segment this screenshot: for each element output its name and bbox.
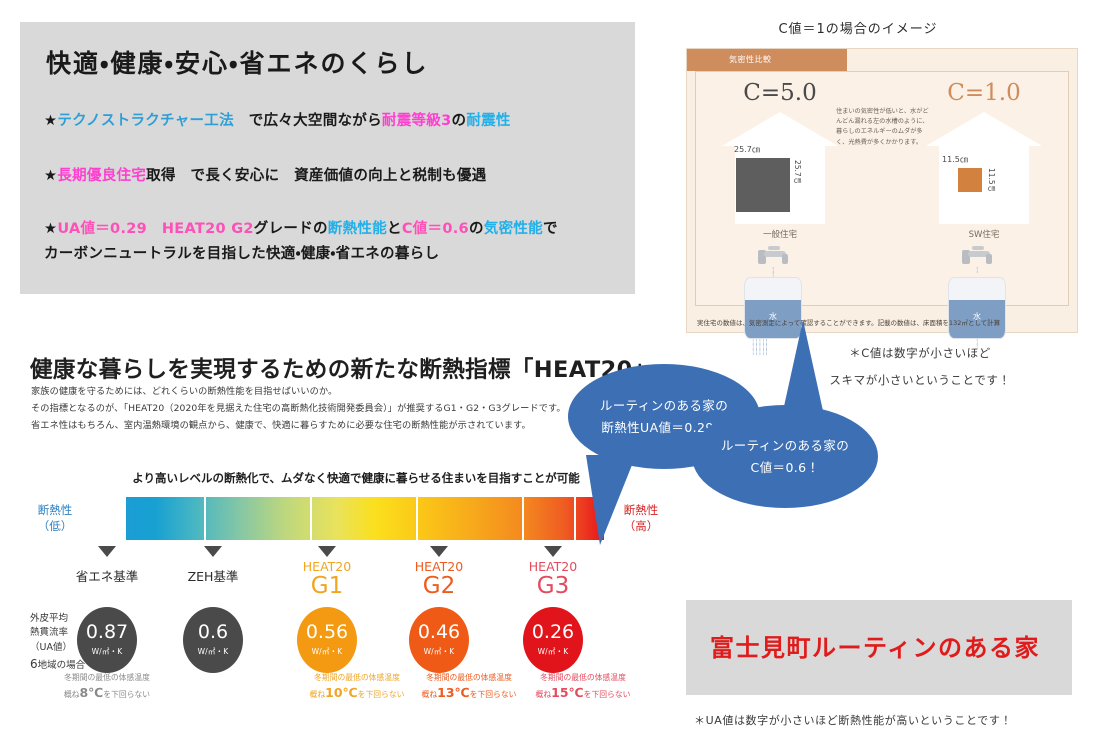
ua-unit-1: W/㎡・K xyxy=(198,646,229,657)
grade-label-4: HEAT20 G3 xyxy=(493,560,613,600)
ua-value-circle-4: 0.26 W/㎡・K xyxy=(523,607,583,673)
ua-value-2: 0.56 xyxy=(306,623,348,642)
gap-dimension-top-left: 25.7㎝ xyxy=(734,144,760,155)
grade-marker-4 xyxy=(544,546,562,557)
heat20-body-line-2: その指標となるのが、「HEAT20（2020年を見据えた住宅の高断熱化技術開発委… xyxy=(31,400,566,414)
bullet-star-1: ★ xyxy=(44,113,57,129)
gap-dimension-side-left: 25.7㎝ xyxy=(792,160,803,184)
gradient-bar-tagline: より高いレベルの断熱化で、ムダなく快適で健康に暮らせる住まいを目指すことが可能 xyxy=(132,470,580,486)
temp-note-4-post: を下回らない xyxy=(584,690,631,699)
temp-note-0-line1: 冬期間の最低の体感温度 xyxy=(32,672,182,684)
ua-axis-region-number: 6 xyxy=(30,657,38,671)
bullet-3-part-3: と xyxy=(387,221,402,237)
temp-note-0-value: 8℃ xyxy=(79,685,103,700)
house-roof-left xyxy=(722,112,838,146)
airtightness-comparison-panel: 気密性比較 C=5.0 25.7㎝ 25.7㎝ 一般住宅 ¦¦ 水 ¦¦¦¦¦¦… xyxy=(686,48,1078,333)
brand-box: 富士見町ルーティンのある家 xyxy=(686,600,1072,695)
ua-axis-region-rest: 地域の場合 xyxy=(38,660,86,671)
temp-note-2-pre: 概ね xyxy=(310,690,326,699)
ua-value-circle-2: 0.56 W/㎡・K xyxy=(297,607,357,673)
grade-label-4-main: G3 xyxy=(493,574,613,599)
gradient-low-l1: 断熱性 xyxy=(38,503,73,517)
ua-value-0: 0.87 xyxy=(86,623,128,642)
water-tank-right: 水 xyxy=(948,277,1006,339)
ua-value-circle-0: 0.87 W/㎡・K xyxy=(77,607,137,673)
bullet-star-2: ★ xyxy=(44,168,57,184)
speech-bubble-c-line1: ルーティンのある家の xyxy=(721,435,849,457)
temp-note-0-pre: 概ね xyxy=(64,690,80,699)
bullet-3-part-7: で xyxy=(543,221,558,237)
temp-note-4-pre: 概ね xyxy=(536,690,552,699)
temp-note-3-pre: 概ね xyxy=(422,690,438,699)
bullet-3-part-5: の xyxy=(469,221,484,237)
brand-title: 富士見町ルーティンのある家 xyxy=(710,628,1040,663)
drip-right-upper: ¦ xyxy=(976,268,979,273)
grade-label-1: ZEH基準 xyxy=(153,566,273,585)
bullet-2-part-1: 取得 で長く安心に 資産価値の向上と税制も優遇 xyxy=(146,168,486,184)
bullet-2-part-0: 長期優良住宅 xyxy=(57,168,146,184)
bullet-star-3: ★ xyxy=(44,221,57,237)
grade-label-4-sub: HEAT20 xyxy=(493,560,613,574)
cvalue-image-caption: C値＝1の場合のイメージ xyxy=(778,18,937,37)
ua-value-circle-1: 0.6 W/㎡・K xyxy=(183,607,243,673)
ua-value-3: 0.46 xyxy=(418,623,460,642)
ua-value-note: ＊UA値は数字が小さいほど断熱性能が高いということです！ xyxy=(694,712,1012,728)
bullet-line-2: ★長期優良住宅取得 で長く安心に 資産価値の向上と税制も優遇 xyxy=(44,165,487,187)
heat20-section-title: 健康な暮らしを実現するための新たな断熱指標「HEAT20」 xyxy=(30,352,656,384)
faucet-icon-right xyxy=(960,244,1004,270)
airtightness-panel-inner: C=5.0 25.7㎝ 25.7㎝ 一般住宅 ¦¦ 水 ¦¦¦¦¦¦¦¦¦¦¦¦… xyxy=(695,71,1069,306)
faucet-icon-left xyxy=(756,244,800,270)
headline-panel: 快適・健康・安心・省エネのくらし ★テクノストラクチャー工法 で広々大空間ながら… xyxy=(20,22,635,294)
temp-note-0-line2: 概ね8℃を下回らない xyxy=(32,684,182,703)
gap-dimension-side-right: 11.5㎝ xyxy=(986,168,997,192)
gradient-tick-1 xyxy=(204,497,206,540)
c-value-heading-right: C=1.0 xyxy=(914,80,1054,106)
insulation-gradient-bar xyxy=(126,497,604,540)
grade-label-3: HEAT20 G2 xyxy=(379,560,499,600)
gradient-tick-3 xyxy=(416,497,418,540)
grade-marker-2 xyxy=(318,546,336,557)
grade-label-0: 省エネ基準 xyxy=(47,566,167,585)
grade-label-0-text: 省エネ基準 xyxy=(47,566,167,585)
grade-marker-3 xyxy=(430,546,448,557)
speech-bubble-c: ルーティンのある家の C値＝0.6！ xyxy=(692,405,878,508)
airtightness-explanation-text: 住まいの気密性が低いと、水がどんどん漏れる左の水槽のように、暮らしのエネルギーの… xyxy=(836,107,932,148)
ua-axis-l3: （UA値） xyxy=(30,642,72,653)
grade-label-3-sub: HEAT20 xyxy=(379,560,499,574)
bullet-line-3: ★UA値＝0.29 HEAT20 G2グレードの断熱性能とC値＝0.6の気密性能… xyxy=(44,218,558,240)
speech-bubble-tail-ua xyxy=(586,455,636,545)
bullet-3-part-2: 断熱性能 xyxy=(328,221,387,237)
grade-label-1-text: ZEH基準 xyxy=(153,566,273,585)
bullet-line-1: ★テクノストラクチャー工法 で広々大空間ながら耐震等級3の耐震性 xyxy=(44,110,511,132)
temp-note-4-line2: 概ね15℃を下回らない xyxy=(508,684,658,703)
grade-marker-1 xyxy=(204,546,222,557)
gradient-tick-2 xyxy=(310,497,312,540)
temp-note-4-value: 15℃ xyxy=(551,685,584,700)
drip-left-lower: ¦¦¦¦¦¦¦¦¦¦¦¦¦¦¦ xyxy=(752,340,769,355)
speech-bubble-ua-line1: ルーティンのある家の xyxy=(600,395,728,417)
house-icon-right xyxy=(926,112,1042,224)
c-value-note-line2: スキマが小さいということです！ xyxy=(829,372,1010,388)
grade-label-2-sub: HEAT20 xyxy=(267,560,387,574)
airtightness-tab-header: 気密性比較 xyxy=(687,49,847,71)
gap-square-left xyxy=(736,158,790,212)
ua-unit-4: W/㎡・K xyxy=(538,646,569,657)
ua-unit-0: W/㎡・K xyxy=(92,646,123,657)
ua-value-1: 0.6 xyxy=(198,623,228,642)
ua-unit-2: W/㎡・K xyxy=(312,646,343,657)
bullet-line-3-continued: カーボンニュートラルを目指した快適・健康・省エネの暮らし xyxy=(44,243,439,265)
airtightness-footnote: 実住宅の数値は、気密測定によって確認することができます。記載の数値は、床面積を1… xyxy=(697,318,1067,327)
c-value-heading-left: C=5.0 xyxy=(710,80,850,106)
bullet-1-part-0: テクノストラクチャー工法 xyxy=(57,113,234,129)
gap-square-right xyxy=(958,168,982,192)
bullet-1-part-4: 耐震性 xyxy=(466,113,510,129)
temp-note-0-post: を下回らない xyxy=(103,690,150,699)
ua-unit-3: W/㎡・K xyxy=(424,646,455,657)
c-value-note-line1: ＊C値は数字が小さいほど xyxy=(849,345,991,361)
speech-bubble-c-line2: C値＝0.6！ xyxy=(751,457,820,479)
gradient-axis-low-label: 断熱性 （低） xyxy=(28,503,82,534)
gradient-low-l2: （低） xyxy=(38,519,73,533)
house-roof-right xyxy=(926,112,1042,146)
bullet-3-part-4: C値＝0.6 xyxy=(402,221,469,237)
grade-label-2: HEAT20 G1 xyxy=(267,560,387,600)
temp-note-2-value: 10℃ xyxy=(325,685,358,700)
house-label-right: SW住宅 xyxy=(926,228,1042,240)
heat20-body-line-3: 省エネ性はもちろん、室内温熱環境の観点から、健康で、快適に暮らすために必要な住宅… xyxy=(31,417,531,431)
house-label-left: 一般住宅 xyxy=(722,228,838,240)
airtightness-tab-label: 気密性比較 xyxy=(729,54,772,65)
gap-dimension-top-right: 11.5㎝ xyxy=(942,154,968,165)
gradient-tick-5 xyxy=(574,497,576,540)
temp-note-3-value: 13℃ xyxy=(437,685,470,700)
heat20-body-line-1: 家族の健康を守るためには、どれくらいの断熱性能を目指せばいいのか。 xyxy=(31,383,337,397)
gradient-tick-4 xyxy=(522,497,524,540)
bullet-1-part-1: で広々大空間ながら xyxy=(234,113,382,129)
temp-note-0: 冬期間の最低の体感温度 概ね8℃を下回らない xyxy=(32,672,182,702)
grade-label-2-main: G1 xyxy=(267,574,387,599)
temp-note-4: 冬期間の最低の体感温度 概ね15℃を下回らない xyxy=(508,672,658,702)
bullet-1-part-3: の xyxy=(452,113,467,129)
bullet-3-part-0: UA値＝0.29 HEAT20 G2 xyxy=(57,221,253,237)
grade-label-3-main: G2 xyxy=(379,574,499,599)
ua-axis-l1: 外皮平均 xyxy=(30,613,68,624)
page-title: 快適・健康・安心・省エネのくらし xyxy=(46,44,429,80)
bullet-3-part-1: グレードの xyxy=(254,221,328,237)
ua-value-circle-3: 0.46 W/㎡・K xyxy=(409,607,469,673)
ua-value-4: 0.26 xyxy=(532,623,574,642)
grade-marker-0 xyxy=(98,546,116,557)
bullet-3-part-6: 気密性能 xyxy=(484,221,543,237)
bullet-1-part-2: 耐震等級3 xyxy=(382,113,452,129)
ua-axis-l2: 熱貫流率 xyxy=(30,627,68,638)
temp-note-4-line1: 冬期間の最低の体感温度 xyxy=(508,672,658,684)
